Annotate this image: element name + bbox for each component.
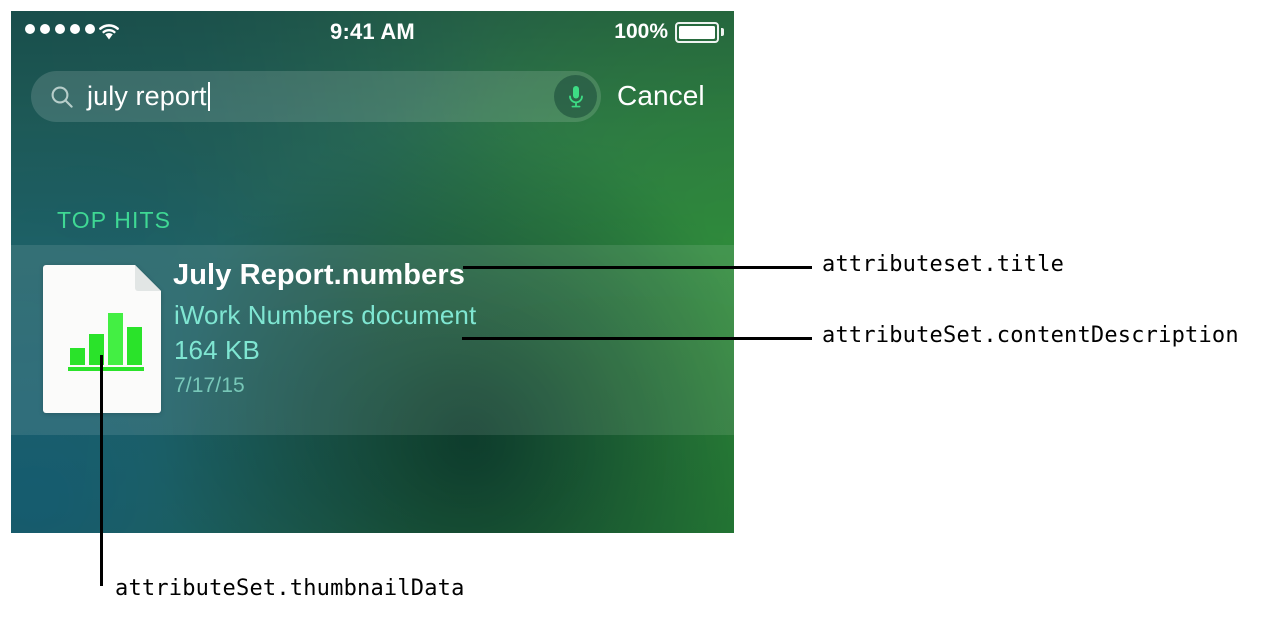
battery-terminal-icon xyxy=(721,28,724,36)
annotation-label-title: attributeset.title xyxy=(822,252,1064,277)
battery-indicator: 100% xyxy=(614,20,724,44)
search-icon xyxy=(49,84,75,110)
search-bar: july report Cancel xyxy=(11,66,734,126)
search-input[interactable]: july report xyxy=(31,71,601,122)
battery-percent-label: 100% xyxy=(614,20,668,44)
result-description: iWork Numbers document xyxy=(174,300,476,331)
annotation-label-content-description: attributeSet.contentDescription xyxy=(822,323,1239,348)
battery-icon xyxy=(675,22,719,43)
spotlight-search-screen: 9:41 AM 100% july report Cancel xyxy=(11,11,734,533)
annotation-label-thumbnail-data: attributeSet.thumbnailData xyxy=(115,576,465,601)
microphone-icon xyxy=(566,84,586,110)
status-bar: 9:41 AM 100% xyxy=(11,11,734,53)
section-header-top-hits: TOP HITS xyxy=(57,207,171,234)
search-result-row[interactable]: July Report.numbers iWork Numbers docume… xyxy=(11,245,734,435)
text-cursor xyxy=(208,82,210,111)
result-date: 7/17/15 xyxy=(174,374,245,398)
battery-fill xyxy=(679,26,715,39)
leader-line-thumbnail xyxy=(100,355,103,586)
result-size: 164 KB xyxy=(174,335,260,366)
search-query-text: july report xyxy=(87,81,207,111)
cancel-button[interactable]: Cancel xyxy=(617,80,705,112)
microphone-button[interactable] xyxy=(554,75,597,118)
leader-line-title xyxy=(463,266,812,269)
leader-line-description xyxy=(462,337,812,340)
search-input-value: july report xyxy=(87,81,210,112)
result-title: July Report.numbers xyxy=(173,259,465,292)
